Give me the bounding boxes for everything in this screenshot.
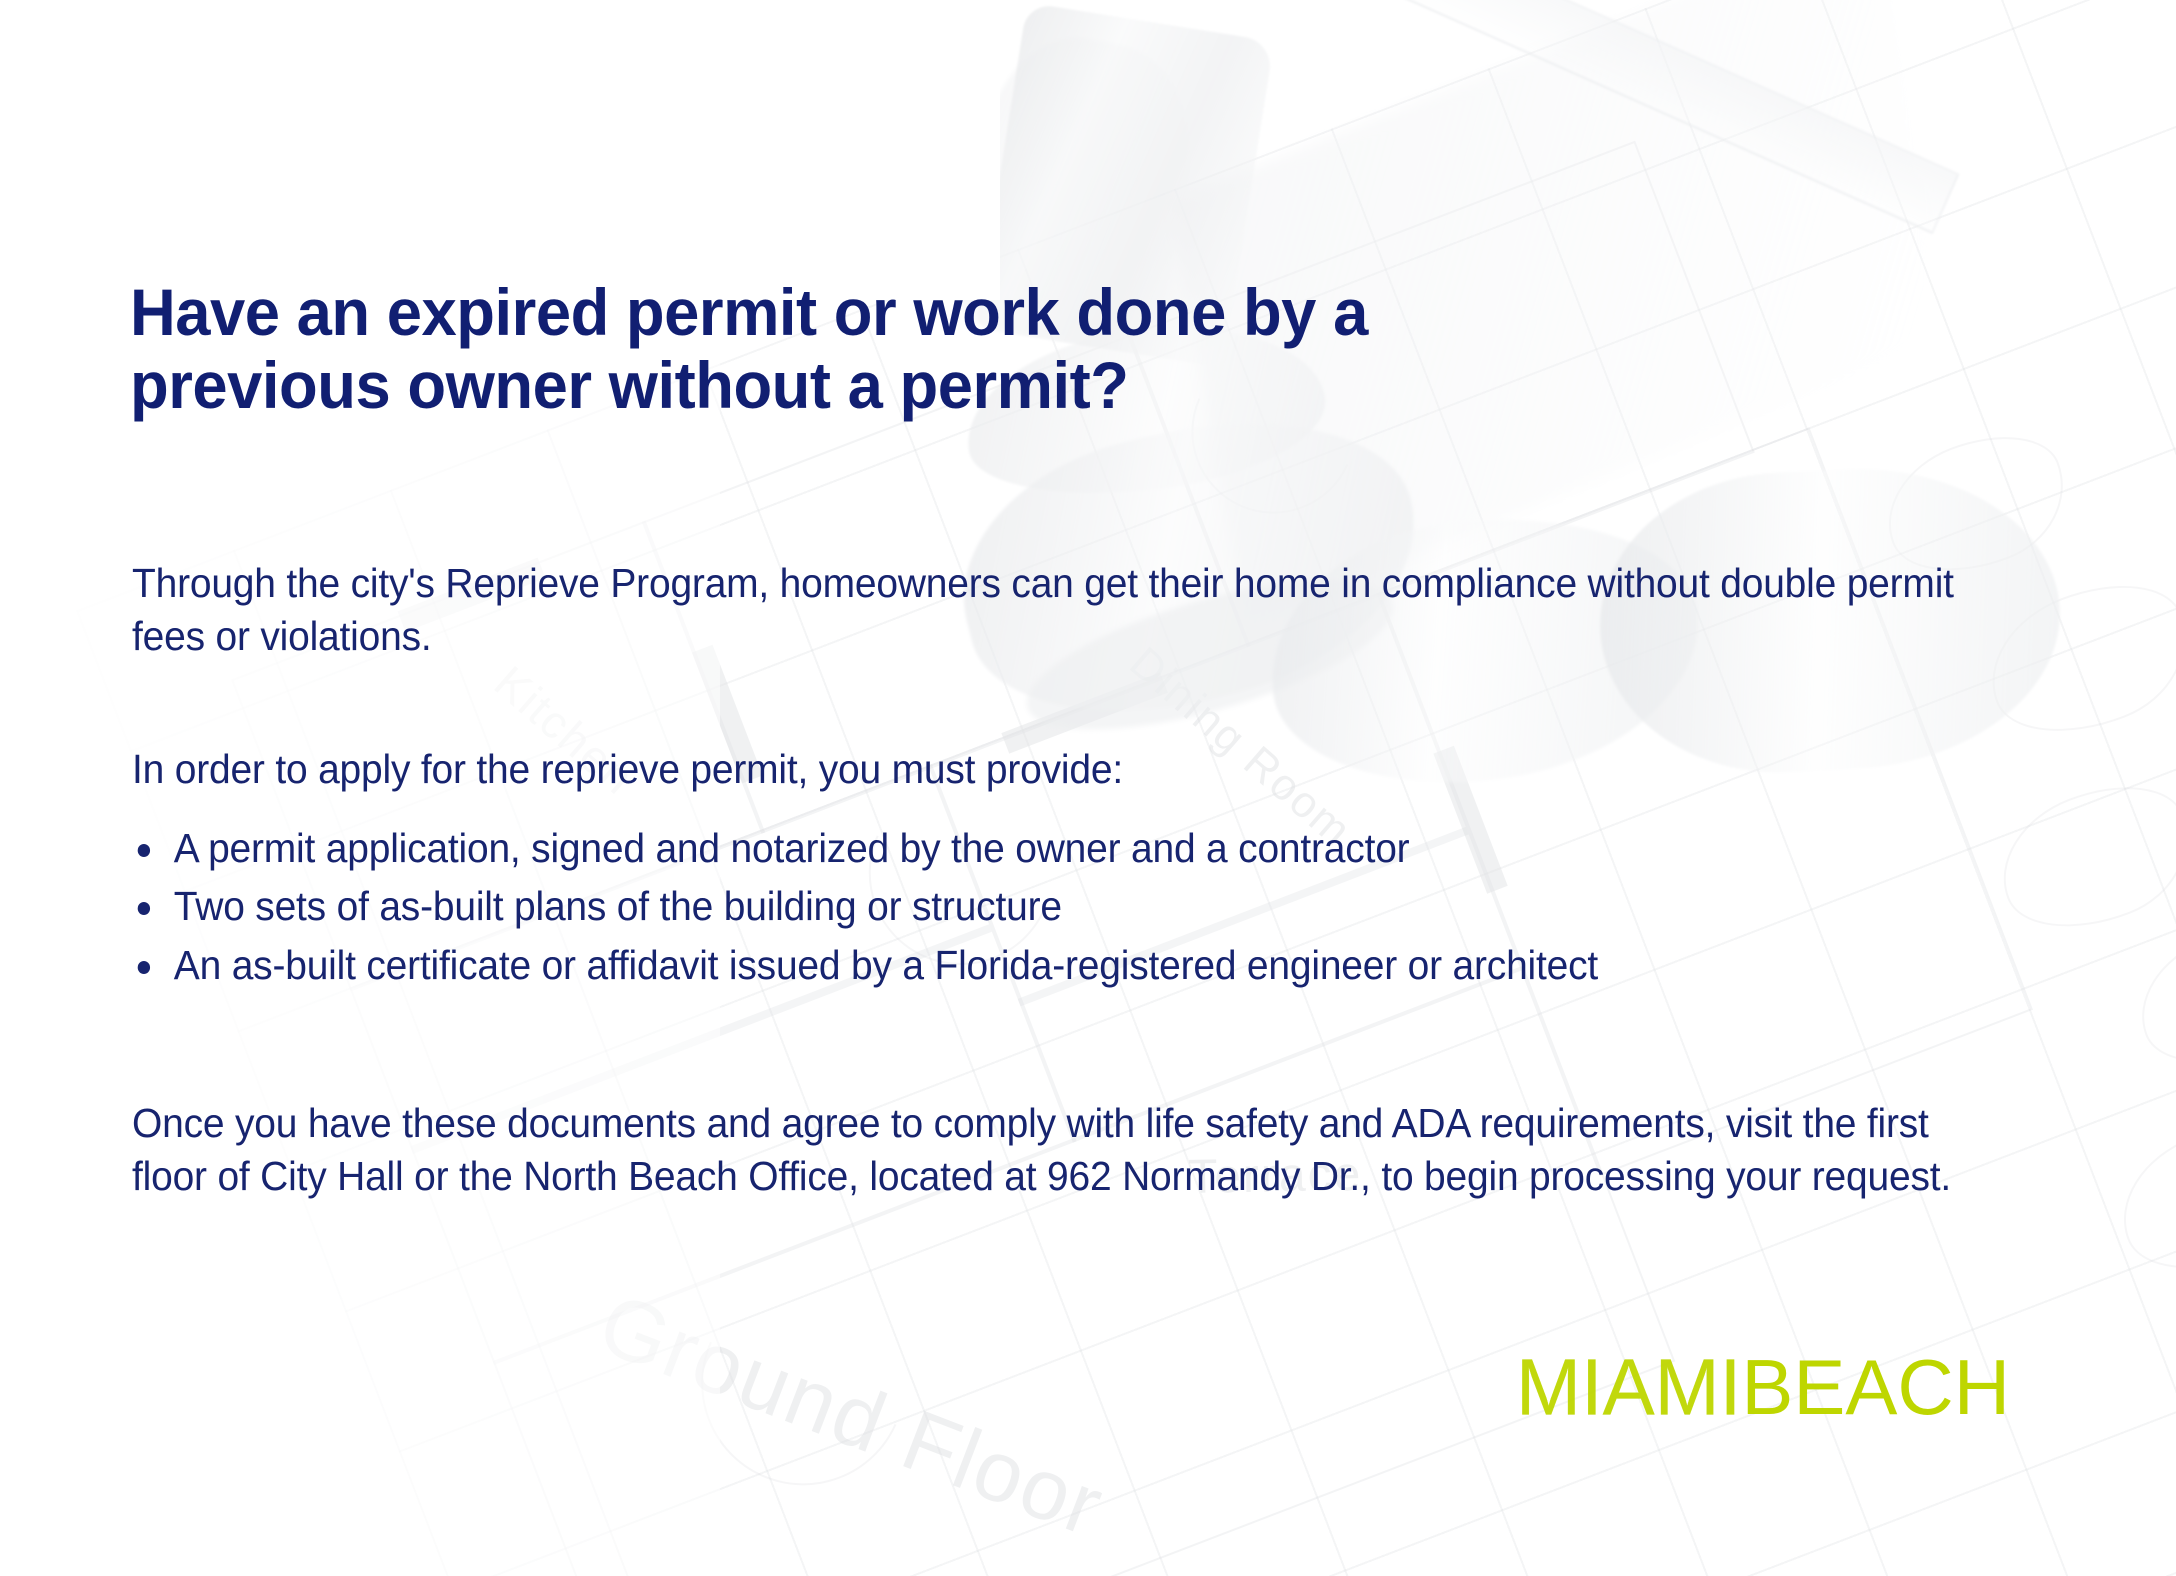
bullet-dot-icon xyxy=(138,844,150,857)
miami-beach-logo: MIAMIBEACH xyxy=(1516,1348,2010,1426)
list-item: A permit application, signed and notariz… xyxy=(132,822,1994,875)
poster-canvas: Kitchen Dining Room Terrace Ground Floor… xyxy=(0,0,2176,1576)
list-item-label: A permit application, signed and notariz… xyxy=(174,825,1410,871)
apply-lead-paragraph: In order to apply for the reprieve permi… xyxy=(132,743,1994,796)
list-item-label: Two sets of as-built plans of the buildi… xyxy=(174,883,1062,929)
bullet-dot-icon xyxy=(138,961,150,974)
intro-paragraph: Through the city's Reprieve Program, hom… xyxy=(132,557,1994,664)
list-item: Two sets of as-built plans of the buildi… xyxy=(132,880,1994,933)
bullet-dot-icon xyxy=(138,902,150,915)
page-title: Have an expired permit or work done by a… xyxy=(130,276,1858,421)
logo-beach-word: BEACH xyxy=(1741,1348,2010,1426)
list-item-label: An as-built certificate or affidavit iss… xyxy=(174,942,1598,988)
closing-paragraph: Once you have these documents and agree … xyxy=(132,1097,1994,1204)
requirements-list: A permit application, signed and notariz… xyxy=(132,822,1994,997)
headline-line-1: Have an expired permit or work done by a xyxy=(130,275,1368,349)
logo-miami-word: MIAMI xyxy=(1516,1347,1741,1427)
headline-line-2: previous owner without a permit? xyxy=(130,348,1129,422)
poster-content: Have an expired permit or work done by a… xyxy=(0,0,2176,1576)
list-item: An as-built certificate or affidavit iss… xyxy=(132,939,1994,992)
